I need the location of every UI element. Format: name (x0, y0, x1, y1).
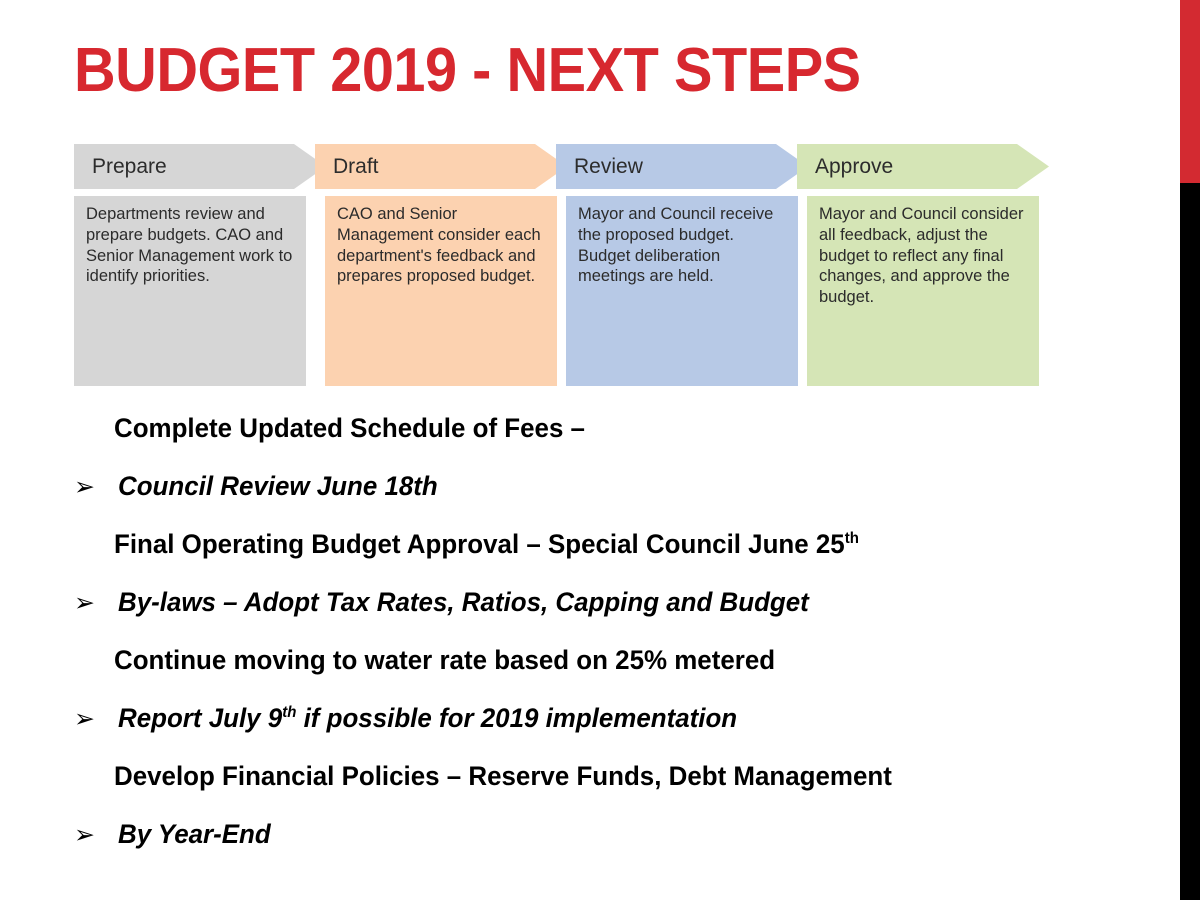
process-stage-draft: Draft CAO and Senior Management consider… (315, 144, 567, 390)
list-item: Continue moving to water rate based on 2… (70, 645, 1150, 703)
arrow-bullet-icon: ➢ (74, 591, 118, 616)
process-stage-prepare-title: Prepare (74, 155, 167, 179)
edge-accent-bar-black (1180, 183, 1200, 900)
process-stage-draft-header: Draft (315, 144, 567, 189)
ordinal-suffix: th (282, 704, 296, 721)
process-stage-prepare: Prepare Departments review and prepare b… (74, 144, 326, 390)
process-stage-review-title: Review (556, 155, 643, 179)
list-item-label: By Year-End (118, 819, 271, 850)
list-item: Develop Financial Policies – Reserve Fun… (70, 761, 1150, 819)
ordinal-suffix: th (845, 530, 859, 547)
list-item-label: Continue moving to water rate based on 2… (114, 645, 775, 676)
list-item-label: Report July 9th if possible for 2019 imp… (118, 703, 737, 734)
list-item: ➢ Report July 9th if possible for 2019 i… (70, 703, 1150, 761)
list-item-label: Complete Updated Schedule of Fees – (114, 413, 585, 444)
list-item-label: Final Operating Budget Approval – Specia… (114, 529, 859, 560)
list-item-label-tail: if possible for 2019 implementation (296, 703, 737, 733)
process-stage-review: Review Mayor and Council receive the pro… (556, 144, 808, 390)
budget-process-diagram: Prepare Departments review and prepare b… (74, 144, 1054, 390)
process-stage-draft-title: Draft (315, 155, 379, 179)
edge-accent-bar-red (1180, 0, 1200, 183)
list-item: Final Operating Budget Approval – Specia… (70, 529, 1150, 587)
list-item-label: By-laws – Adopt Tax Rates, Ratios, Cappi… (118, 587, 809, 618)
process-stage-approve: Approve Mayor and Council consider all f… (797, 144, 1049, 390)
arrow-bullet-icon: ➢ (74, 707, 118, 732)
list-item: ➢ By Year-End (70, 819, 1150, 877)
process-stage-approve-body: Mayor and Council consider all feedback,… (807, 196, 1039, 386)
list-item-label-main: Final Operating Budget Approval – Specia… (114, 529, 845, 559)
page-title: BUDGET 2019 - NEXT STEPS (74, 38, 1060, 103)
arrow-bullet-icon: ➢ (74, 823, 118, 848)
process-stage-prepare-body: Departments review and prepare budgets. … (74, 196, 306, 386)
process-stage-review-header: Review (556, 144, 808, 189)
list-item-label: Council Review June 18th (118, 471, 438, 502)
arrow-bullet-icon: ➢ (74, 475, 118, 500)
next-steps-bullet-list: Complete Updated Schedule of Fees – ➢ Co… (70, 413, 1150, 877)
list-item-label-main: Report July 9 (118, 703, 282, 733)
list-item: ➢ By-laws – Adopt Tax Rates, Ratios, Cap… (70, 587, 1150, 645)
list-item-label: Develop Financial Policies – Reserve Fun… (114, 761, 892, 792)
process-stage-draft-body: CAO and Senior Management consider each … (325, 196, 557, 386)
process-stage-approve-title: Approve (797, 155, 893, 179)
process-stage-review-body: Mayor and Council receive the proposed b… (566, 196, 798, 386)
list-item: Complete Updated Schedule of Fees – (70, 413, 1150, 471)
list-item: ➢ Council Review June 18th (70, 471, 1150, 529)
process-stage-prepare-header: Prepare (74, 144, 326, 189)
process-stage-approve-header: Approve (797, 144, 1049, 189)
